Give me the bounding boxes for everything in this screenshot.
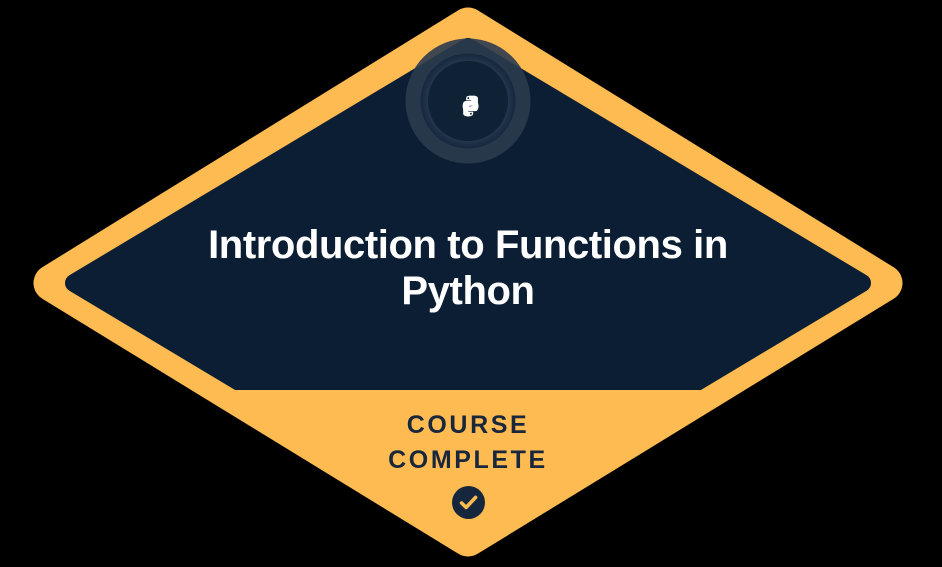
status-label-course: COURSE: [171, 408, 765, 443]
badge-canvas: Introduction to Functions in Python COUR…: [0, 0, 942, 567]
badge-title: Introduction to Functions in Python: [171, 222, 765, 314]
check-circle-icon: [452, 486, 485, 519]
status-label-complete: COMPLETE: [171, 443, 765, 478]
completion-status: COURSE COMPLETE: [171, 408, 765, 519]
python-logo-icon: [411, 44, 525, 158]
